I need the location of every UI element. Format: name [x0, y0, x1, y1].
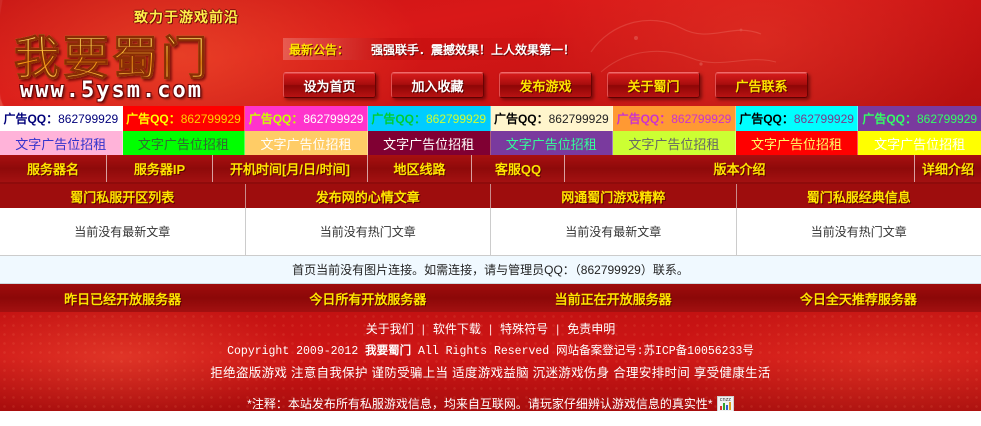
cnzz-icon-bars	[720, 402, 731, 410]
server-col-label: 服务器名	[27, 159, 79, 178]
footer-link-separator: |	[422, 322, 425, 336]
server-col-label: 地区线路	[393, 159, 445, 178]
cnzz-stats-icon[interactable]: cnzz	[717, 396, 734, 411]
section-header-label: 蜀门私服开区列表	[70, 187, 174, 206]
section-header-1: 发布网的心情文章	[246, 184, 492, 208]
section-header-label: 网通蜀门游戏精粹	[561, 187, 665, 206]
section-body-row: 当前没有最新文章当前没有热门文章当前没有最新文章当前没有热门文章	[0, 208, 981, 256]
open-server-link-0[interactable]: 昨日已经开放服务器	[0, 284, 245, 312]
footer-copyright: Copyright 2009-2012 我要蜀门 All Rights Rese…	[0, 342, 981, 358]
section-cell-text: 当前没有最新文章	[74, 223, 170, 240]
footer-link-1[interactable]: 软件下载	[433, 322, 481, 336]
section-cell-3: 当前没有热门文章	[737, 208, 981, 255]
section-cell-1: 当前没有热门文章	[246, 208, 492, 255]
site-logo-url: www.5ysm.com	[20, 78, 203, 103]
site-footer: 关于我们|软件下载|特殊符号|免责申明 Copyright 2009-2012 …	[0, 312, 981, 411]
ad-text-cell-3[interactable]: 文字广告位招租	[368, 131, 491, 155]
nav-button-4[interactable]: 广告联系	[715, 72, 808, 98]
ad-qq-label: 广告QQ：	[126, 110, 181, 127]
image-link-notice: 首页当前没有图片连接。如需连接，请与管理员QQ：（862799929）联系。	[0, 256, 981, 284]
ad-text-label: 文字广告位招租	[751, 134, 842, 153]
ad-text-cell-0[interactable]: 文字广告位招租	[0, 131, 123, 155]
server-col-header-3[interactable]: 地区线路	[368, 155, 472, 182]
ad-qq-number: 862799929	[794, 112, 854, 126]
ad-text-label: 文字广告位招租	[261, 134, 352, 153]
disclaimer-text: *注释：本站发布所有私服游戏信息，均来自互联网。请玩家仔细辨认游戏信息的真实性*	[247, 397, 712, 411]
server-col-header-4[interactable]: 客服QQ	[472, 155, 565, 182]
ad-text-label: 文字广告位招租	[506, 134, 597, 153]
section-cell-0: 当前没有最新文章	[0, 208, 246, 255]
ad-text-label: 文字广告位招租	[874, 134, 965, 153]
ad-qq-number: 862799929	[426, 112, 486, 126]
footer-link-0[interactable]: 关于我们	[366, 322, 414, 336]
open-server-link-3[interactable]: 今日全天推荐服务器	[736, 284, 981, 312]
ad-qq-cell-3[interactable]: 广告QQ：862799929	[368, 106, 491, 131]
ad-qq-number: 862799929	[303, 112, 363, 126]
open-server-link-1[interactable]: 今日所有开放服务器	[245, 284, 490, 312]
nav-button-1[interactable]: 加入收藏	[391, 72, 484, 98]
server-col-label: 详细介绍	[922, 159, 974, 178]
section-cell-2: 当前没有最新文章	[491, 208, 737, 255]
footer-link-separator: |	[489, 322, 492, 336]
footer-disclaimer: *注释：本站发布所有私服游戏信息，均来自互联网。请玩家仔细辨认游戏信息的真实性*…	[0, 395, 981, 411]
copyright-prefix: Copyright 2009-2012	[227, 345, 358, 358]
footer-links: 关于我们|软件下载|特殊符号|免责申明	[0, 312, 981, 337]
footer-link-separator: |	[556, 322, 559, 336]
nav-button-label: 设为首页	[303, 76, 355, 95]
server-col-header-6[interactable]: 详细介绍	[915, 155, 981, 182]
section-header-2: 网通蜀门游戏精粹	[491, 184, 737, 208]
ad-text-label: 文字广告位招租	[383, 134, 474, 153]
open-server-label: 今日所有开放服务器	[309, 289, 426, 308]
ad-qq-number: 862799929	[671, 112, 731, 126]
ad-text-cell-2[interactable]: 文字广告位招租	[245, 131, 368, 155]
ad-qq-number: 862799929	[917, 112, 977, 126]
server-col-header-1[interactable]: 服务器IP	[107, 155, 213, 182]
section-cell-text: 当前没有热门文章	[320, 223, 416, 240]
section-header-0: 蜀门私服开区列表	[0, 184, 246, 208]
nav-button-2[interactable]: 发布游戏	[499, 72, 592, 98]
ad-qq-cell-2[interactable]: 广告QQ：862799929	[245, 106, 368, 131]
server-col-label: 开机时间[月/日/时间]	[230, 159, 350, 178]
server-col-label: 客服QQ	[495, 159, 541, 178]
ad-qq-number: 862799929	[58, 112, 118, 126]
ad-text-cell-7[interactable]: 文字广告位招租	[858, 131, 981, 155]
ad-qq-cell-4[interactable]: 广告QQ：862799929	[491, 106, 614, 131]
nav-button-label: 加入收藏	[411, 76, 463, 95]
open-server-label: 昨日已经开放服务器	[64, 289, 181, 308]
ad-qq-cell-5[interactable]: 广告QQ：862799929	[613, 106, 736, 131]
main-nav: 设为首页加入收藏发布游戏关于蜀门广告联系	[283, 72, 808, 98]
footer-link-3[interactable]: 免责申明	[567, 322, 615, 336]
ad-qq-label: 广告QQ：	[249, 110, 304, 127]
announcement-text: 强强联手．震撼效果！上人效果第一！	[371, 41, 575, 58]
ad-qq-row: 广告QQ：862799929广告QQ：862799929广告QQ：8627999…	[0, 106, 981, 131]
section-cell-text: 当前没有热门文章	[811, 223, 907, 240]
server-col-header-5[interactable]: 版本介绍	[565, 155, 915, 182]
ad-qq-label: 广告QQ：	[494, 110, 549, 127]
ad-text-label: 文字广告位招租	[15, 134, 106, 153]
section-header-3: 蜀门私服经典信息	[737, 184, 981, 208]
server-col-header-0[interactable]: 服务器名	[0, 155, 107, 182]
server-table-header: 服务器名服务器IP开机时间[月/日/时间]地区线路客服QQ版本介绍详细介绍	[0, 155, 981, 184]
section-header-label: 发布网的心情文章	[316, 187, 420, 206]
ad-qq-cell-6[interactable]: 广告QQ：862799929	[736, 106, 859, 131]
copyright-site-name: 我要蜀门	[365, 345, 411, 357]
nav-button-label: 关于蜀门	[627, 76, 679, 95]
ad-qq-cell-7[interactable]: 广告QQ：862799929	[858, 106, 981, 131]
nav-button-3[interactable]: 关于蜀门	[607, 72, 700, 98]
ad-qq-label: 广告QQ：	[739, 110, 794, 127]
ad-text-row: 文字广告位招租文字广告位招租文字广告位招租文字广告位招租文字广告位招租文字广告位…	[0, 131, 981, 155]
announcement-label: 最新公告：	[289, 41, 349, 58]
server-col-label: 服务器IP	[134, 159, 185, 178]
ad-text-cell-1[interactable]: 文字广告位招租	[123, 131, 246, 155]
section-cell-text: 当前没有最新文章	[565, 223, 661, 240]
ad-qq-cell-0[interactable]: 广告QQ：862799929	[0, 106, 123, 131]
ad-qq-label: 广告QQ：	[371, 110, 426, 127]
open-server-label: 今日全天推荐服务器	[800, 289, 917, 308]
open-server-bar: 昨日已经开放服务器今日所有开放服务器当前正在开放服务器今日全天推荐服务器	[0, 284, 981, 312]
open-server-label: 当前正在开放服务器	[555, 289, 672, 308]
section-header-label: 蜀门私服经典信息	[807, 187, 911, 206]
announcement-bar: 最新公告： 强强联手．震撼效果！上人效果第一！	[283, 38, 581, 60]
open-server-link-2[interactable]: 当前正在开放服务器	[491, 284, 736, 312]
site-header: 致力于游戏前沿 我要蜀门 www.5ysm.com 最新公告： 强强联手．震撼效…	[0, 0, 981, 106]
ad-text-label: 文字广告位招租	[138, 134, 229, 153]
server-col-label: 版本介绍	[713, 159, 765, 178]
ad-text-cell-5[interactable]: 文字广告位招租	[613, 131, 736, 155]
ad-text-cell-4[interactable]: 文字广告位招租	[491, 131, 614, 155]
server-col-header-2[interactable]: 开机时间[月/日/时间]	[213, 155, 368, 182]
section-header-row: 蜀门私服开区列表发布网的心情文章网通蜀门游戏精粹蜀门私服经典信息	[0, 184, 981, 208]
ad-text-cell-6[interactable]: 文字广告位招租	[736, 131, 859, 155]
nav-button-0[interactable]: 设为首页	[283, 72, 376, 98]
ad-text-label: 文字广告位招租	[628, 134, 719, 153]
copyright-suffix: All Rights Reserved 网站备案登记号:苏ICP备1005623…	[418, 345, 754, 358]
page-root: 致力于游戏前沿 我要蜀门 www.5ysm.com 最新公告： 强强联手．震撼效…	[0, 0, 981, 426]
nav-button-label: 广告联系	[735, 76, 787, 95]
ad-qq-label: 广告QQ：	[617, 110, 672, 127]
footer-health-slogan: 拒绝盗版游戏 注意自我保护 谨防受骗上当 适度游戏益脑 沉迷游戏伤身 合理安排时…	[0, 362, 981, 381]
ad-qq-label: 广告QQ：	[862, 110, 917, 127]
ad-qq-number: 862799929	[181, 112, 241, 126]
footer-link-2[interactable]: 特殊符号	[500, 322, 548, 336]
nav-button-label: 发布游戏	[519, 76, 571, 95]
ad-qq-cell-1[interactable]: 广告QQ：862799929	[123, 106, 246, 131]
ad-qq-number: 862799929	[549, 112, 609, 126]
ad-qq-label: 广告QQ：	[3, 110, 58, 127]
